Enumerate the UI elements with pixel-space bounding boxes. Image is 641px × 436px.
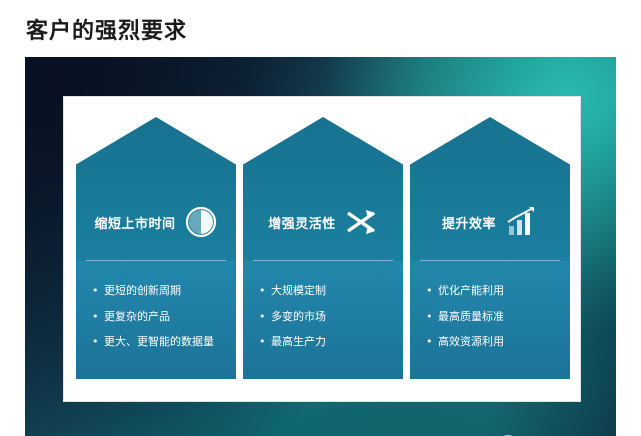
- list-item: 优化产能利用: [426, 285, 566, 298]
- shuffle-arrows-icon: [344, 205, 378, 239]
- column-label-2: 增强灵活性: [268, 213, 336, 232]
- content-panel: 缩短上市时间 更短的创新周期 更复杂的产品 更大、更智能的数据量: [25, 57, 616, 436]
- diagram-card: 缩短上市时间 更短的创新周期 更复杂的产品 更大、更智能的数据量: [63, 96, 581, 402]
- column-header-1: 缩短上市时间: [76, 205, 236, 239]
- divider-1: [86, 260, 226, 261]
- column-efficiency[interactable]: 提升效率 优化产能利用 最高质量标准: [410, 97, 570, 403]
- chevron-head-2: [243, 117, 403, 261]
- list-item: 最高质量标准: [426, 311, 566, 324]
- chevron-head-3: [410, 117, 570, 261]
- list-item: 更大、更智能的数据量: [92, 336, 232, 349]
- column-flexibility[interactable]: 增强灵活性 大规模定制 多变的市场 最高生产力: [243, 97, 403, 403]
- column-time-to-market[interactable]: 缩短上市时间 更短的创新周期 更复杂的产品 更大、更智能的数据量: [76, 97, 236, 403]
- bullet-list-1: 更短的创新周期 更复杂的产品 更大、更智能的数据量: [92, 285, 232, 362]
- column-header-3: 提升效率: [410, 205, 570, 239]
- bar-chart-rising-icon: [504, 205, 538, 239]
- bullet-list-3: 优化产能利用 最高质量标准 高效资源利用: [426, 285, 566, 362]
- column-label-3: 提升效率: [442, 213, 496, 232]
- column-label-1: 缩短上市时间: [94, 213, 175, 232]
- page-title: 客户的强烈要求: [26, 13, 187, 45]
- slide-canvas: 客户的强烈要求 缩短上市时间: [0, 0, 641, 436]
- pie-chart-circle-icon: [184, 205, 218, 239]
- list-item: 高效资源利用: [426, 336, 566, 349]
- divider-2: [253, 260, 393, 261]
- bullet-list-2: 大规模定制 多变的市场 最高生产力: [259, 285, 399, 362]
- divider-3: [420, 260, 560, 261]
- list-item: 更短的创新周期: [92, 285, 232, 298]
- list-item: 最高生产力: [259, 336, 399, 349]
- column-header-2: 增强灵活性: [243, 205, 403, 239]
- list-item: 大规模定制: [259, 285, 399, 298]
- list-item: 更复杂的产品: [92, 311, 232, 324]
- list-item: 多变的市场: [259, 311, 399, 324]
- chevron-head-1: [76, 117, 236, 261]
